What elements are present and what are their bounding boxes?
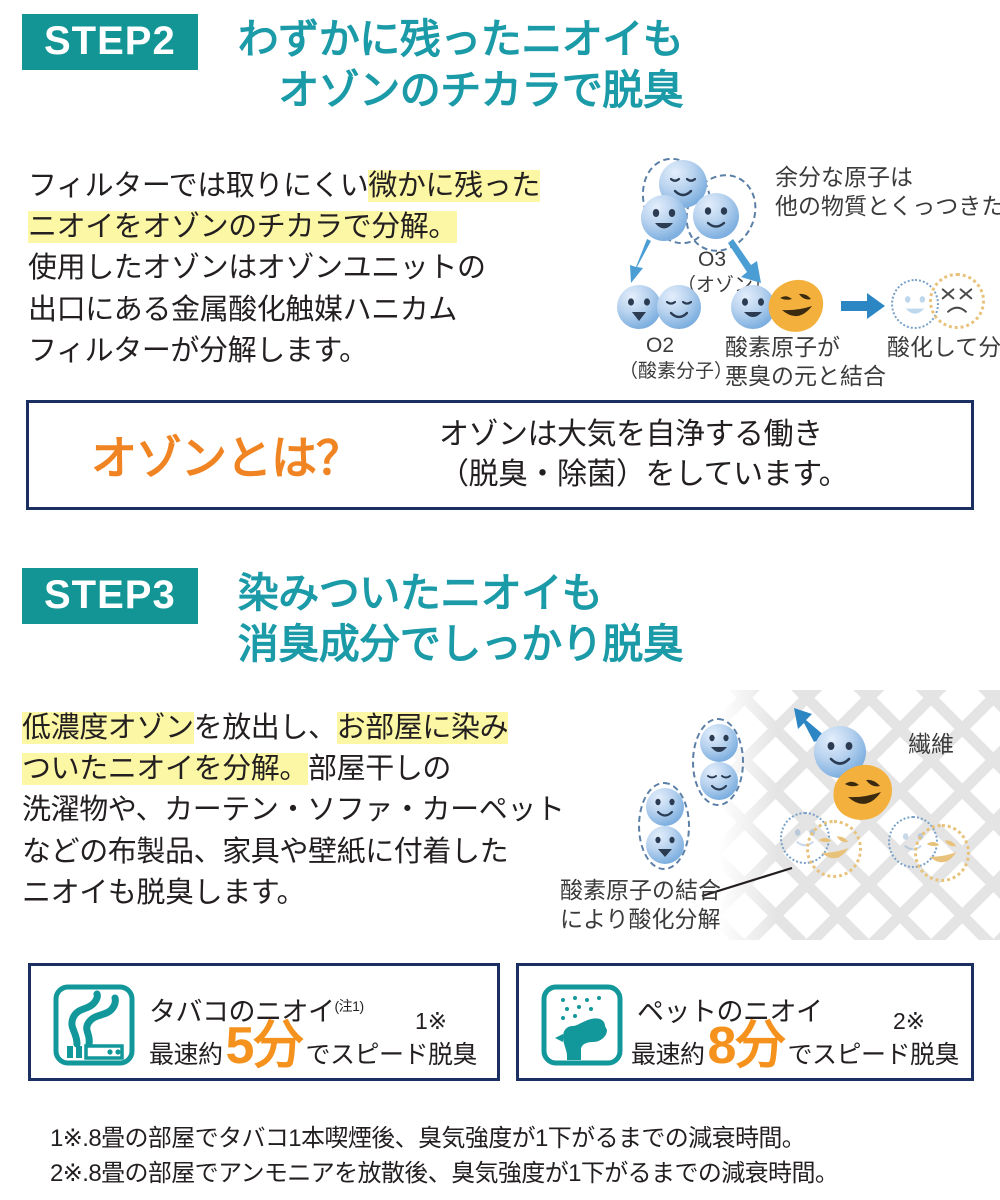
feature-ref-tobacco: 1※ <box>415 1008 447 1035</box>
step2-title: わずかに残ったニオイも オゾンのチカラで脱臭 <box>238 14 684 117</box>
step3-title-line2: 消臭成分でしっかり脱臭 <box>238 619 684 670</box>
step3-body-text: 低濃度オゾンを放出し、お部屋に染み ついたニオイを分解。部屋干しの 洗濯物や、カ… <box>22 708 565 914</box>
footnote-line-2: 2※.8畳の部屋でアンモニアを放散後、臭気強度が1下がるまでの減衰時間。 <box>50 1157 838 1192</box>
pet-dog-icon <box>541 984 623 1066</box>
result-arrow-icon <box>841 291 887 321</box>
text-run-highlight: ついたニオイを分解。 <box>22 753 308 785</box>
step2-badge: STEP2 <box>22 14 198 70</box>
footnotes: 1※.8畳の部屋でタバコ1本喫煙後、臭気強度が1下がるまでの減衰時間。 2※.8… <box>50 1122 838 1192</box>
ozone-atom-left <box>641 195 687 241</box>
ozone-atom-right <box>693 193 739 239</box>
text-run: 使用したオゾンはオゾンユニットの <box>28 252 486 284</box>
excess-atom-note-line2: 他の物質とくっつきたい <box>775 192 1000 221</box>
text-run: 出口にある金属酸化触媒ハニカム <box>28 294 457 326</box>
ozone-reaction-diagram: O3 （オゾン） 余分な原子は 他の物質とくっつきたい <box>615 155 1000 390</box>
ozone-answer-line2: （脱臭・除菌）をしています。 <box>439 455 848 495</box>
feature-number: 5分 <box>226 1026 303 1068</box>
feature-title-note: (注1) <box>335 998 364 1014</box>
footnote-line-1: 1※.8畳の部屋でタバコ1本喫煙後、臭気強度が1下がるまでの減衰時間。 <box>50 1122 838 1157</box>
text-run: 洗濯物や、カーテン・ソファ・カーペット <box>22 794 565 826</box>
step3-badge: STEP3 <box>22 568 198 624</box>
feature-suffix: でスピード脱臭 <box>787 1035 959 1071</box>
step3-title: 染みついたニオイも 消臭成分でしっかり脱臭 <box>238 568 684 671</box>
feature-number: 8分 <box>708 1026 785 1068</box>
feature-box-pet: ペットのニオイ 最速約 8分 でスピード脱臭 2※ <box>516 963 974 1081</box>
step3-body-line-4: などの布製品、家具や壁紙に付着した <box>22 832 565 873</box>
step2-body-line-2: ニオイをオゾンのチカラで分解。 <box>28 207 540 248</box>
text-run: フィルターが分解します。 <box>28 335 368 367</box>
oxidation-caption: 酸素原子の結合 により酸化分解 <box>560 876 721 935</box>
oxidation-caption-line1: 酸素原子の結合 <box>560 876 721 905</box>
step3-body-line-3: 洗濯物や、カーテン・ソファ・カーペット <box>22 790 565 831</box>
ozone-definition-box: オゾンとは？ オゾンは大気を自浄する働き （脱臭・除菌）をしています。 <box>26 400 974 510</box>
step3-header: STEP3 染みついたニオイも 消臭成分でしっかり脱臭 <box>22 568 683 671</box>
step2-body-line-5: フィルターが分解します。 <box>28 331 540 372</box>
binding-label-line1: 酸素原子が <box>725 333 886 362</box>
decomposed-odor-outline <box>929 273 985 329</box>
feature-prefix: 最速約 <box>631 1035 705 1071</box>
step2-header: STEP2 わずかに残ったニオイも オゾンのチカラで脱臭 <box>22 14 683 117</box>
step2-title-line2: オゾンのチカラで脱臭 <box>238 65 684 116</box>
o2-label-line2: （酸素分子） <box>619 360 701 384</box>
feature-prefix: 最速約 <box>149 1035 223 1071</box>
text-run: を放出し、 <box>194 712 337 744</box>
step2-body-line-1: フィルターでは取りにくい微かに残った <box>28 166 540 207</box>
step2-body-line-3: 使用したオゾンはオゾンユニットの <box>28 248 540 289</box>
step3-body-line-2: ついたニオイを分解。部屋干しの <box>22 749 565 790</box>
o2-atom-left <box>617 285 661 329</box>
binding-label: 酸素原子が 悪臭の元と結合 <box>725 333 886 392</box>
o2-label-line1: O2 <box>619 333 701 360</box>
text-run-highlight: 微かに残った <box>368 170 540 202</box>
odor-source-blob <box>767 279 825 333</box>
feature-box-tobacco: タバコのニオイ(注1) 最速約 5分 でスピード脱臭 1※ <box>28 963 500 1081</box>
cigarette-smoke-icon <box>53 984 135 1066</box>
feature-ref-pet: 2※ <box>893 1008 925 1035</box>
text-run: 部屋干しの <box>308 753 451 785</box>
text-run: ニオイも脱臭します。 <box>22 877 305 909</box>
ozone-answer: オゾンは大気を自浄する働き （脱臭・除菌）をしています。 <box>439 415 848 495</box>
step3-title-line1: 染みついたニオイも <box>238 570 603 616</box>
step2-body-line-4: 出口にある金属酸化触媒ハニカム <box>28 290 540 331</box>
text-run-highlight: 低濃度オゾン <box>22 712 194 744</box>
ozone-answer-line1: オゾンは大気を自浄する働き <box>439 415 848 455</box>
text-run-highlight: お部屋に染み <box>337 712 509 744</box>
o2-atom-right <box>657 285 701 329</box>
o2-label: O2 （酸素分子） <box>619 333 701 384</box>
text-run: などの布製品、家具や壁紙に付着した <box>22 836 508 868</box>
step3-body-line-1: 低濃度オゾンを放出し、お部屋に染み <box>22 708 565 749</box>
excess-atom-note: 余分な原子は 他の物質とくっつきたい <box>775 163 1000 222</box>
step2-body-text: フィルターでは取りにくい微かに残った ニオイをオゾンのチカラで分解。 使用したオ… <box>28 166 540 372</box>
oxidation-caption-line2: により酸化分解 <box>560 905 721 934</box>
excess-atom-note-line1: 余分な原子は <box>775 163 1000 192</box>
ozone-question: オゾンとは？ <box>91 422 361 488</box>
result-label: 酸化して分解 <box>887 333 1000 362</box>
text-run-highlight: ニオイをオゾンのチカラで分解。 <box>28 211 457 243</box>
o3-label-line1: O3 <box>677 247 747 274</box>
feature-suffix: でスピード脱臭 <box>305 1035 477 1071</box>
infographic-page: STEP2 わずかに残ったニオイも オゾンのチカラで脱臭 フィルターでは取りにく… <box>0 0 1000 1200</box>
text-run: フィルターでは取りにくい <box>28 170 368 202</box>
binding-label-line2: 悪臭の元と結合 <box>725 362 886 391</box>
step3-body-line-5: ニオイも脱臭します。 <box>22 873 565 914</box>
step2-title-line1: わずかに残ったニオイも <box>238 16 684 62</box>
